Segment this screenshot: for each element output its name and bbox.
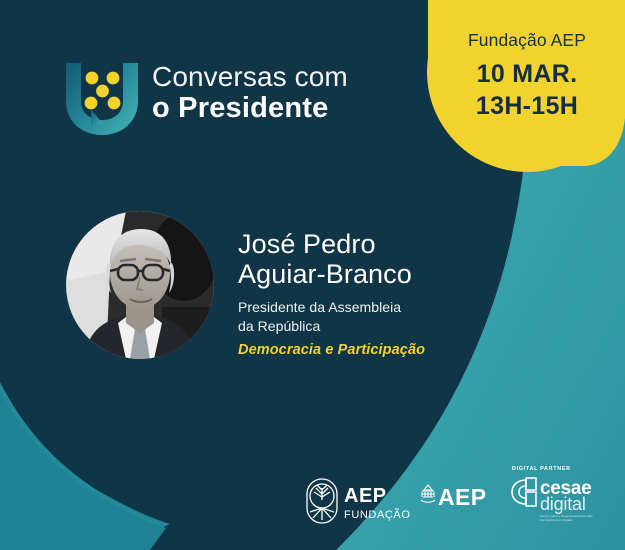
speaker-info: José Pedro Aguiar-Branco Presidente da A… [238,229,488,358]
portrait-photo [66,211,214,359]
brand-title: Conversas com o Presidente [152,62,348,124]
cesae-mark-icon [512,478,536,506]
speaker-name-line1: José Pedro [238,229,488,259]
aep-crest-icon [421,485,435,502]
logo-aep: AEP [418,481,488,509]
logo-cesae-digital: DIGITAL PARTNER cesae digital Centro par… [502,462,598,524]
speaker-avatar [66,211,214,359]
brand-logo [61,57,143,139]
speaker-role-line2: da República [238,317,488,335]
speaker-name-line2: Aguiar-Branco [238,259,488,289]
aep-wordmark: AEP [438,484,487,509]
brand-title-line1: Conversas com [152,62,348,92]
badge-date-label: 10 MAR. [437,60,617,89]
cesae-kicker: DIGITAL PARTNER [512,466,571,472]
logo-aep-fundacao: AEP FUNDAÇÃO [306,478,410,524]
tree-emblem-icon [307,479,337,523]
cesae-sub: digital [540,494,586,514]
svg-text:AEP: AEP [344,485,387,507]
footer-logos: AEP FUNDAÇÃO AEP DIGITAL PARTNER [306,460,606,538]
speaker-theme: Democracia e Participação [238,342,488,358]
poster-canvas: Conversas com o Presidente Fundação AEP … [0,0,625,550]
aep-wordmark: AEP FUNDAÇÃO [344,485,410,521]
speech-bubble-dots-icon [61,57,143,139]
svg-text:FUNDAÇÃO: FUNDAÇÃO [344,508,410,521]
brand-title-line2: o Presidente [152,93,348,124]
cesae-tagline-2: Competências Digitais [540,518,573,522]
speaker-role-line1: Presidente da Assembleia [238,298,488,316]
date-badge: Fundação AEP 10 MAR. 13H-15H [437,30,617,121]
badge-time-label: 13H-15H [437,92,617,121]
badge-host-label: Fundação AEP [437,30,617,51]
